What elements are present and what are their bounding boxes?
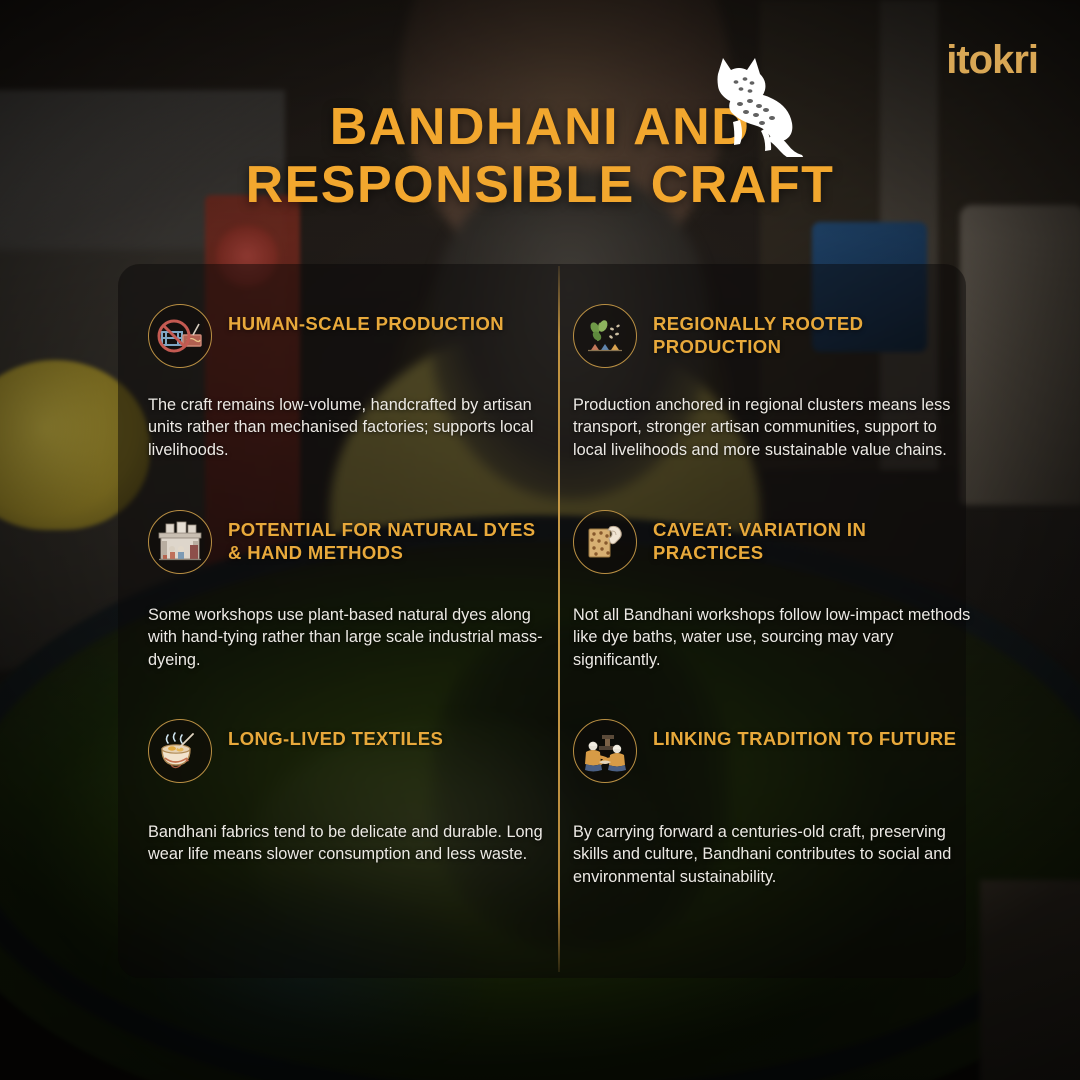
hand-holding-fabric-swatch-icon — [573, 510, 637, 574]
dye-pot-icon — [148, 719, 212, 783]
card-header: REGIONALLY ROOTED PRODUCTION — [573, 304, 973, 368]
card-potential-natural-dyes: POTENTIAL FOR NATURAL DYES & HAND METHOD… — [148, 510, 548, 671]
card-body: Some workshops use plant-based natural d… — [148, 604, 548, 671]
card-title: REGIONALLY ROOTED PRODUCTION — [653, 304, 973, 359]
card-header: LINKING TRADITION TO FUTURE — [573, 719, 973, 783]
card-body: Bandhani fabrics tend to be delicate and… — [148, 821, 548, 866]
card-regionally-rooted-production: REGIONALLY ROOTED PRODUCTION Production … — [573, 304, 973, 461]
page-title-line-1: BANDHANI AND — [120, 98, 960, 156]
no-factory-icon — [148, 304, 212, 368]
card-title: LONG-LIVED TEXTILES — [228, 719, 443, 750]
sprouting-plants-icon — [573, 304, 637, 368]
card-linking-tradition-to-future: LINKING TRADITION TO FUTURE By carrying … — [573, 719, 973, 888]
card-long-lived-textiles: LONG-LIVED TEXTILES Bandhani fabrics ten… — [148, 719, 548, 866]
page-title: BANDHANI AND RESPONSIBLE CRAFT — [0, 98, 1080, 214]
card-header: POTENTIAL FOR NATURAL DYES & HAND METHOD… — [148, 510, 548, 574]
card-body: The craft remains low-volume, handcrafte… — [148, 394, 548, 461]
infographic-poster: itokri BANDHANI AND RESPONSIBLE CRAFT — [0, 0, 1080, 1080]
leopard-icon — [688, 52, 808, 157]
card-header: CAVEAT: VARIATION IN PRACTICES — [573, 510, 973, 574]
page-title-line-2: RESPONSIBLE CRAFT — [120, 156, 960, 214]
card-grid: HUMAN-SCALE PRODUCTION The craft remains… — [118, 264, 966, 978]
craft-workshop-building-icon — [148, 510, 212, 574]
card-body: By carrying forward a centuries-old craf… — [573, 821, 973, 888]
card-caveat-variation-in-practices: CAVEAT: VARIATION IN PRACTICES Not all B… — [573, 510, 973, 671]
itokri-logo[interactable]: itokri — [946, 40, 1038, 80]
card-header: LONG-LIVED TEXTILES — [148, 719, 548, 783]
card-title: LINKING TRADITION TO FUTURE — [653, 719, 956, 750]
card-header: HUMAN-SCALE PRODUCTION — [148, 304, 548, 368]
card-human-scale-production: HUMAN-SCALE PRODUCTION The craft remains… — [148, 304, 548, 461]
card-body: Production anchored in regional clusters… — [573, 394, 973, 461]
two-artisans-icon — [573, 719, 637, 783]
card-title: POTENTIAL FOR NATURAL DYES & HAND METHOD… — [228, 510, 548, 565]
card-title: CAVEAT: VARIATION IN PRACTICES — [653, 510, 973, 565]
card-title: HUMAN-SCALE PRODUCTION — [228, 304, 504, 335]
card-body: Not all Bandhani workshops follow low-im… — [573, 604, 973, 671]
